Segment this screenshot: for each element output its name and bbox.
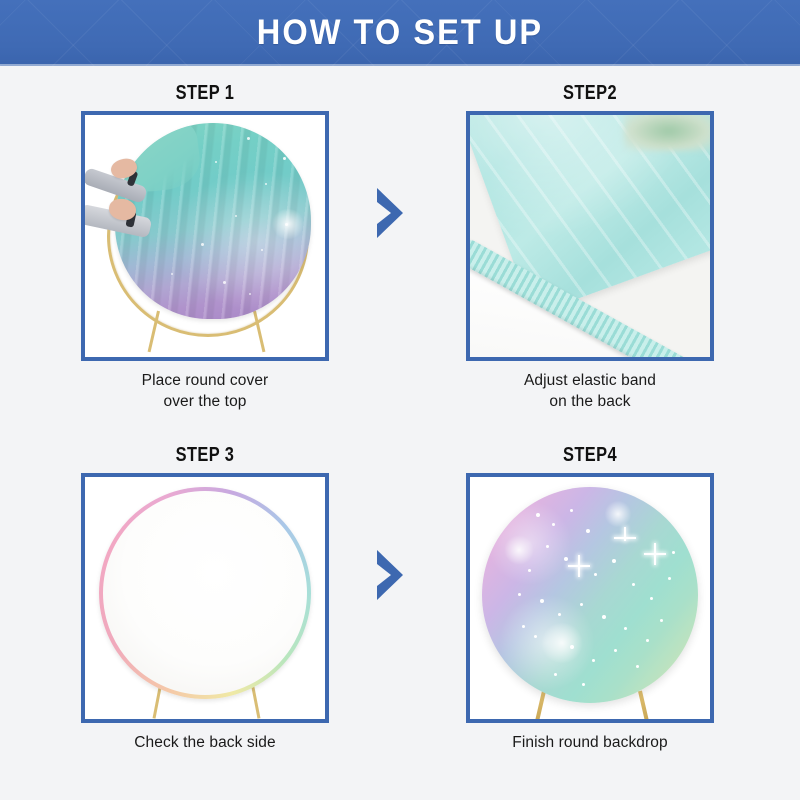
step-image-frame-1 xyxy=(81,111,329,361)
finished-backdrop-disc xyxy=(482,487,698,703)
step-image-4 xyxy=(470,477,710,719)
stand-leg-right xyxy=(638,691,650,723)
page-header: HOW TO SET UP xyxy=(0,0,800,66)
stand-leg-right xyxy=(251,685,260,719)
stand-leg-left xyxy=(153,685,162,719)
step-card-4: STEP4 xyxy=(425,442,755,753)
step-caption-4-line1: Finish round backdrop xyxy=(425,732,755,753)
steps-grid: STEP 1 xyxy=(0,66,800,800)
step-label-2: STEP2 xyxy=(455,80,726,106)
step-label-3: STEP 3 xyxy=(70,442,341,468)
step-image-frame-2 xyxy=(466,111,714,361)
step-card-1: STEP 1 xyxy=(40,80,370,412)
step-label-1: STEP 1 xyxy=(70,80,341,106)
step-caption-3: Check the back side xyxy=(40,732,370,753)
step-caption-1: Place round cover over the top xyxy=(40,370,370,412)
step-caption-1-line1: Place round cover xyxy=(40,370,370,391)
step-label-4: STEP4 xyxy=(455,442,726,468)
step-caption-1-line2: over the top xyxy=(40,391,370,412)
step-image-frame-4 xyxy=(466,473,714,723)
step-caption-3-line1: Check the back side xyxy=(40,732,370,753)
step-caption-2: Adjust elastic band on the back xyxy=(425,370,755,412)
stand-leg-left xyxy=(534,691,546,723)
chevron-right-icon xyxy=(373,548,407,602)
background-blur-patch xyxy=(624,115,710,151)
step-image-2 xyxy=(470,115,710,357)
backdrop-white-back-face xyxy=(103,491,307,695)
chevron-right-icon xyxy=(373,186,407,240)
rainbow-rim-edge xyxy=(99,487,311,699)
step-caption-4: Finish round backdrop xyxy=(425,732,755,753)
step-caption-2-line2: on the back xyxy=(425,391,755,412)
step-caption-2-line1: Adjust elastic band xyxy=(425,370,755,391)
step-image-frame-3 xyxy=(81,473,329,723)
step-image-1 xyxy=(85,115,325,357)
step-image-3 xyxy=(85,477,325,719)
page-title: HOW TO SET UP xyxy=(257,13,543,53)
bottom-padding xyxy=(0,786,800,800)
step-card-2: STEP2 Adjust elastic band on the back xyxy=(425,80,755,412)
step-card-3: STEP 3 Check the back side xyxy=(40,442,370,753)
